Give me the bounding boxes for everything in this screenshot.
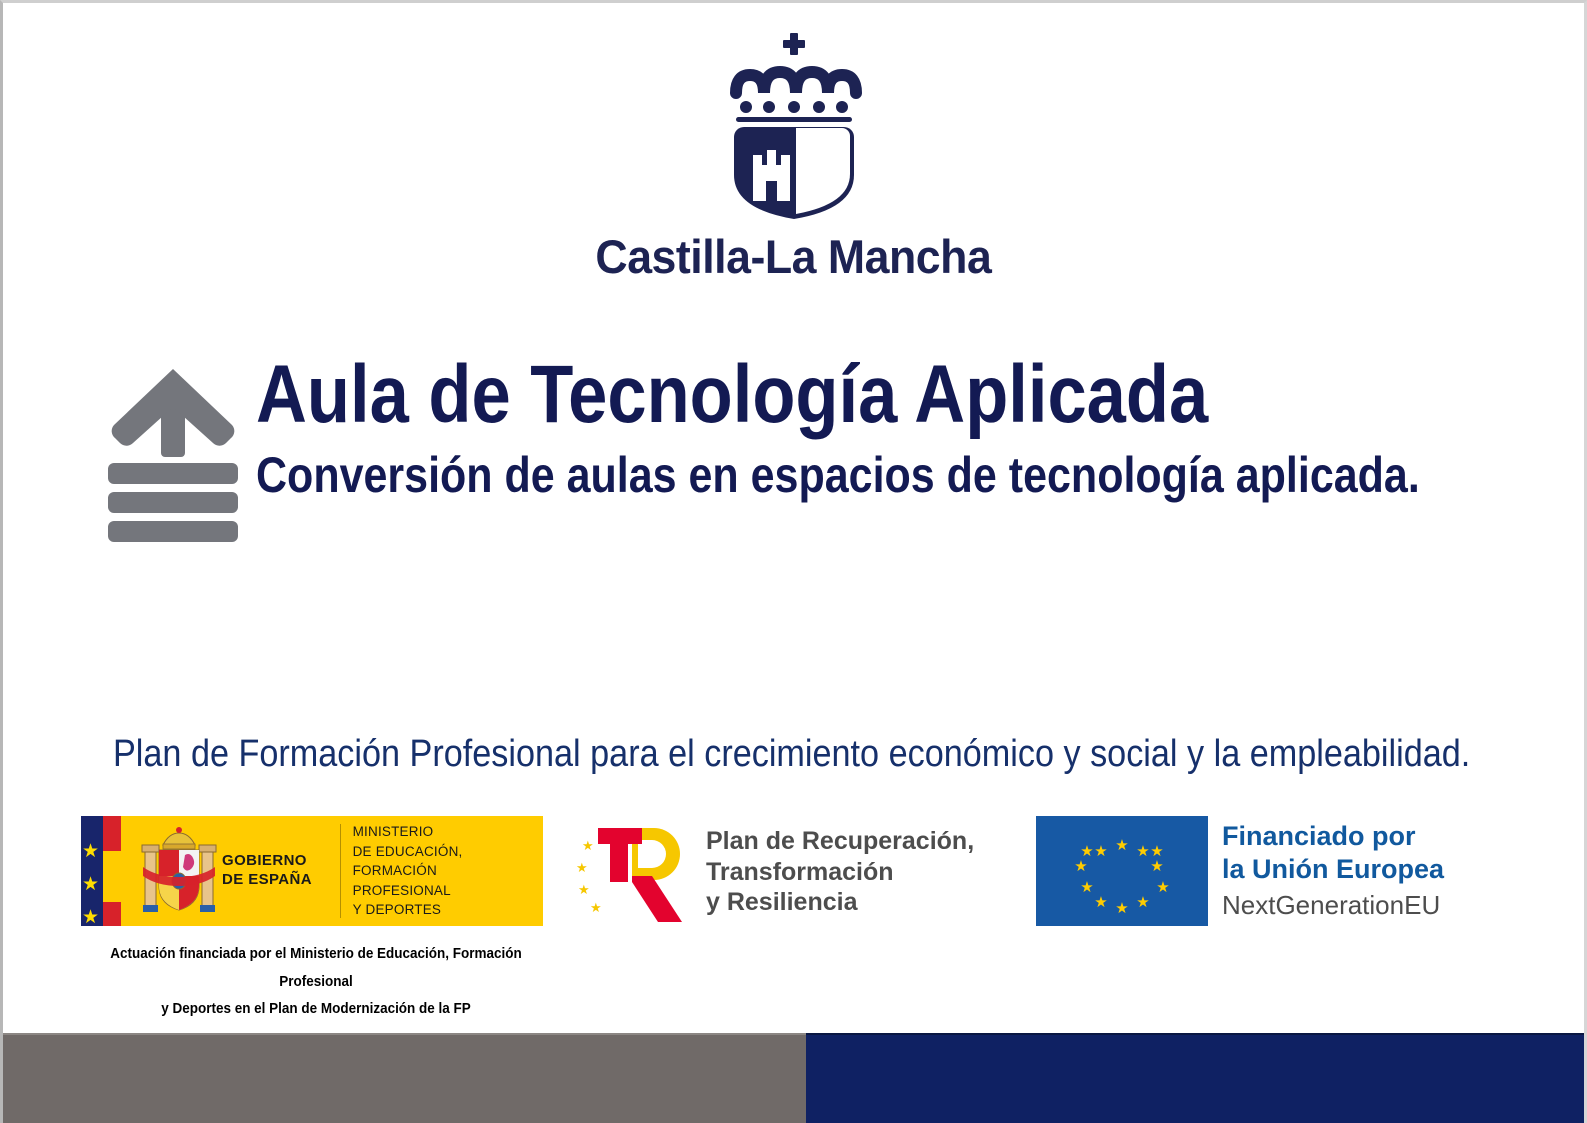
prtr-line3: y Resiliencia [706, 887, 974, 918]
fineprint-line2: y Deportes en el Plan de Modernización d… [97, 996, 534, 1024]
gobierno-line1: GOBIERNO [222, 852, 340, 871]
eu-text-group: Financiado por la Unión Europea NextGene… [1222, 820, 1444, 921]
svg-text:★: ★ [1115, 899, 1128, 917]
prtr-line2: Transformación [706, 857, 974, 888]
svg-text:★: ★ [1156, 878, 1169, 896]
ministerio-line3: Y DEPORTES [353, 900, 537, 920]
eu-line1: Financiado por [1222, 820, 1444, 852]
footer-bar [3, 1033, 1584, 1123]
fineprint-line1: Actuación financiada por el Ministerio d… [97, 941, 534, 996]
svg-text:★: ★ [1080, 878, 1093, 896]
castilla-la-mancha-logo: Castilla-La Mancha [3, 29, 1584, 284]
gobierno-text: GOBIERNO DE ESPAÑA [222, 816, 340, 926]
prtr-monogram-icon: ★ ★ ★ ★ [576, 820, 696, 924]
european-union-funding-logo: ★ ★ ★ ★ ★ ★ ★ ★ ★ ★ ★ ★ Financiado por l… [1036, 816, 1536, 926]
title-text-group: Aula de Tecnología Aplicada Conversión d… [256, 355, 1587, 502]
title-block: Aula de Tecnología Aplicada Conversión d… [98, 355, 1498, 543]
ministerio-line2: DE EDUCACIÓN, FORMACIÓN PROFESIONAL [353, 842, 537, 901]
upload-arrow-icon [98, 363, 248, 543]
svg-text:★: ★ [590, 900, 602, 915]
svg-text:★: ★ [1150, 842, 1163, 860]
logo-divider [340, 824, 341, 918]
spain-flag-stripe-icon: ★★★ [81, 816, 136, 926]
svg-text:★: ★ [1115, 836, 1128, 854]
gobierno-de-espana-logo: ★★★ [81, 816, 543, 926]
footer-bar-navy [806, 1033, 1584, 1123]
svg-text:★: ★ [1136, 893, 1149, 911]
prtr-line1: Plan de Recuperación, [706, 826, 974, 857]
footer-bar-gray [3, 1033, 806, 1123]
plan-recuperacion-text: Plan de Recuperación, Transformación y R… [706, 826, 974, 918]
castilla-la-mancha-crest-icon [714, 29, 874, 219]
svg-text:★: ★ [582, 838, 594, 853]
page-title: Aula de Tecnología Aplicada [256, 355, 1420, 435]
ministerio-text: MINISTERIO DE EDUCACIÓN, FORMACIÓN PROFE… [353, 816, 543, 926]
eu-line2: la Unión Europea [1222, 853, 1444, 885]
ministerio-line1: MINISTERIO [353, 822, 537, 842]
castilla-la-mancha-wordmark: Castilla-La Mancha [596, 229, 992, 284]
svg-text:★: ★ [1080, 842, 1093, 860]
plan-statement: Plan de Formación Profesional para el cr… [113, 733, 1470, 776]
slide-canvas: Castilla-La Mancha Aula de Tecnología Ap… [0, 0, 1587, 1123]
eu-line3: NextGenerationEU [1222, 889, 1444, 922]
svg-text:★: ★ [576, 860, 588, 875]
funding-fineprint: Actuación financiada por el Ministerio d… [97, 941, 534, 1024]
funding-logo-strip: ★★★ [81, 816, 1541, 926]
svg-text:★: ★ [1136, 842, 1149, 860]
plan-recuperacion-logo: ★ ★ ★ ★ Plan de Recuperación, Transforma… [576, 818, 1036, 926]
svg-text:★: ★ [1094, 842, 1107, 860]
spain-coat-of-arms-icon [136, 816, 222, 926]
page-subtitle: Conversión de aulas en espacios de tecno… [256, 449, 1420, 502]
svg-text:★: ★ [1094, 893, 1107, 911]
european-union-flag-icon: ★ ★ ★ ★ ★ ★ ★ ★ ★ ★ ★ ★ [1036, 816, 1208, 926]
svg-text:★: ★ [578, 882, 590, 897]
gobierno-line2: DE ESPAÑA [222, 871, 340, 890]
